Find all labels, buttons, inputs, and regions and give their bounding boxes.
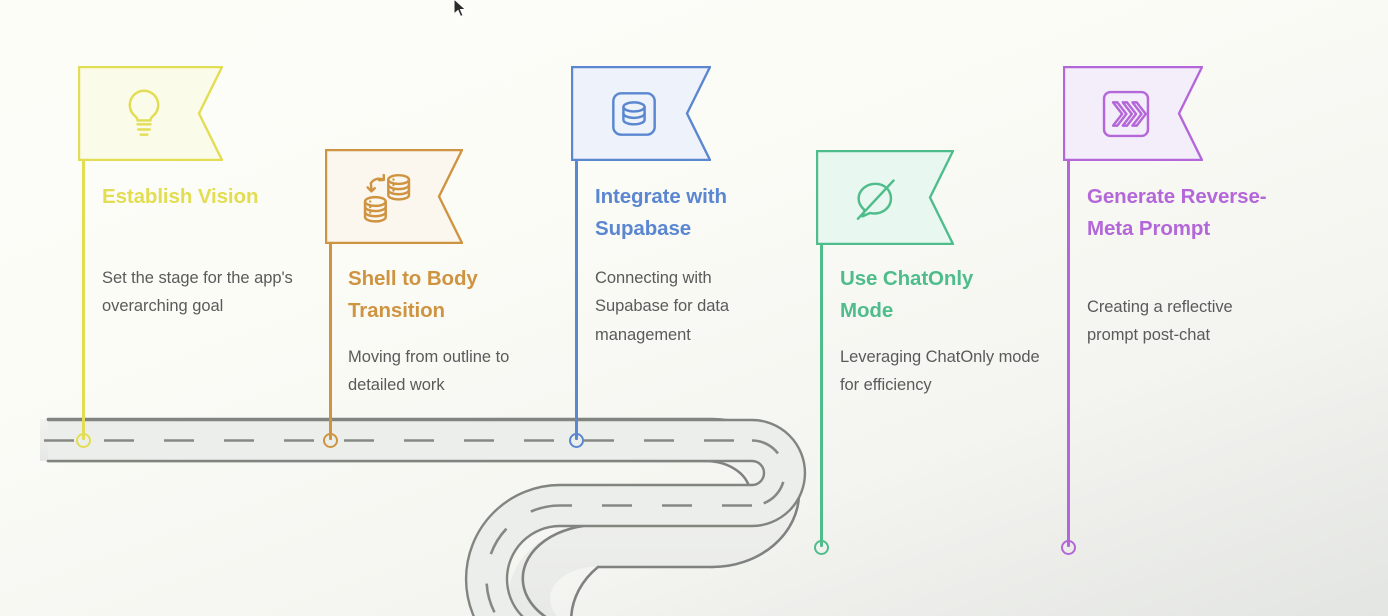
- milestone-description: Moving from outline to detailed work: [348, 343, 540, 400]
- milestone-title: Integrate with Supabase: [595, 181, 780, 246]
- milestone-flag[interactable]: [1063, 66, 1203, 161]
- milestone-title: Use ChatOnly Mode: [840, 263, 1020, 328]
- lightbulb-icon: [113, 83, 175, 150]
- milestone-description: Connecting with Supabase for data manage…: [595, 264, 785, 349]
- milestone-description: Set the stage for the app's overarching …: [102, 264, 297, 321]
- mouse-pointer-icon: [452, 0, 468, 20]
- roadmap-diagram: Establish VisionSet the stage for the ap…: [0, 0, 1388, 616]
- milestone-marker[interactable]: [323, 433, 338, 448]
- milestone-marker[interactable]: [76, 433, 91, 448]
- database-icon: [603, 83, 665, 150]
- road-geometry: [44, 420, 1318, 616]
- milestone-description: Leveraging ChatOnly mode for efficiency: [840, 343, 1040, 400]
- chevrons-right-icon: [1095, 83, 1157, 150]
- database-transfer-icon: [356, 166, 418, 233]
- milestone-description: Creating a reflective prompt post-chat: [1087, 293, 1282, 350]
- milestone-flag[interactable]: [571, 66, 711, 161]
- milestone-marker[interactable]: [814, 540, 829, 555]
- milestone-flag[interactable]: [816, 150, 954, 245]
- chat-off-icon: [847, 167, 909, 234]
- milestone-title: Shell to Body Transition: [348, 263, 523, 328]
- milestone-flag[interactable]: [325, 149, 463, 244]
- milestone-title: Generate Reverse-Meta Prompt: [1087, 181, 1277, 246]
- milestone-marker[interactable]: [1061, 540, 1076, 555]
- milestone-flag[interactable]: [78, 66, 223, 161]
- road-center-dashes: [44, 441, 1318, 616]
- road-surface: [40, 440, 1330, 616]
- milestone-title: Establish Vision: [102, 181, 262, 213]
- milestone-marker[interactable]: [569, 433, 584, 448]
